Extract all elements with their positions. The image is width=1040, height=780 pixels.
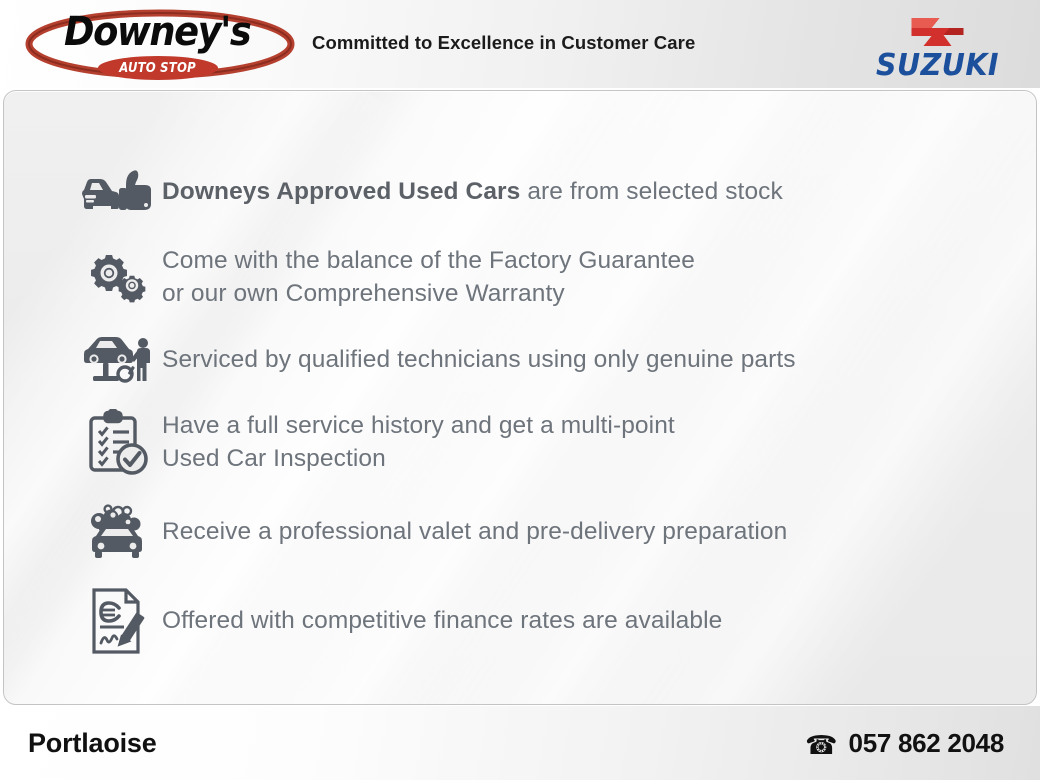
downeys-auto-stop-logo: Downey's AUTO STOP [20,6,300,84]
feature-text: Offered with competitive finance rates a… [162,605,722,638]
car-thumbs-up-icon [76,169,162,215]
gears-icon [76,247,162,309]
feature-item-factory-guarantee: Come with the balance of the Factory Gua… [76,239,1016,317]
feature-item-approved-used-cars: Downeys Approved Used Cars are from sele… [76,163,1016,221]
feature-text-normal: Come with the balance of the Factory Gua… [162,247,695,307]
features-panel: Downeys Approved Used Cars are from sele… [3,90,1037,705]
dealer-phone-number[interactable]: 057 862 2048 [849,728,1004,759]
auto-stop-badge: AUTO STOP [98,56,218,80]
euro-contract-signature-icon [76,586,162,656]
feature-text: Serviced by qualified technicians using … [162,344,796,377]
car-lift-mechanic-icon [76,335,162,385]
telephone-icon: ☎ [805,732,837,758]
feature-item-finance-rates: Offered with competitive finance rates a… [76,583,1016,659]
dealer-contact[interactable]: ☎ 057 862 2048 [805,728,1004,759]
feature-list: Downeys Approved Used Cars are from sele… [4,91,1036,704]
suzuki-logo: SUZUKI [855,12,1020,80]
feature-text: Downeys Approved Used Cars are from sele… [162,176,783,209]
feature-text-normal: are from selected stock [520,178,782,205]
feature-text-normal: Have a full service history and get a mu… [162,412,675,472]
page-header: Downey's AUTO STOP Committed to Excellen… [0,0,1040,88]
feature-text: Come with the balance of the Factory Gua… [162,245,695,311]
feature-text-normal: Receive a professional valet and pre-del… [162,518,787,545]
feature-text-normal: Offered with competitive finance rates a… [162,607,722,634]
feature-text: Have a full service history and get a mu… [162,410,675,476]
feature-text: Receive a professional valet and pre-del… [162,516,787,549]
dealer-location: Portlaoise [28,728,157,759]
suzuki-s-emblem-icon [855,12,1020,52]
feature-text-normal: Serviced by qualified technicians using … [162,346,796,373]
feature-text-strong: Downeys Approved Used Cars [162,178,520,205]
header-tagline: Committed to Excellence in Customer Care [312,32,695,54]
suzuki-wordmark: SUZUKI [859,48,1016,83]
page-footer: Portlaoise ☎ 057 862 2048 [0,706,1040,780]
downeys-logo-wordmark: Downey's [64,9,250,55]
feature-item-valet-preparation: Receive a professional valet and pre-del… [76,499,1016,565]
promo-page: Downey's AUTO STOP Committed to Excellen… [0,0,1040,780]
auto-stop-badge-label: AUTO STOP [120,61,197,76]
car-wash-icon [76,503,162,561]
clipboard-checklist-icon [76,409,162,477]
feature-item-qualified-technicians: Serviced by qualified technicians using … [76,331,1016,389]
feature-item-service-history: Have a full service history and get a mu… [76,399,1016,487]
